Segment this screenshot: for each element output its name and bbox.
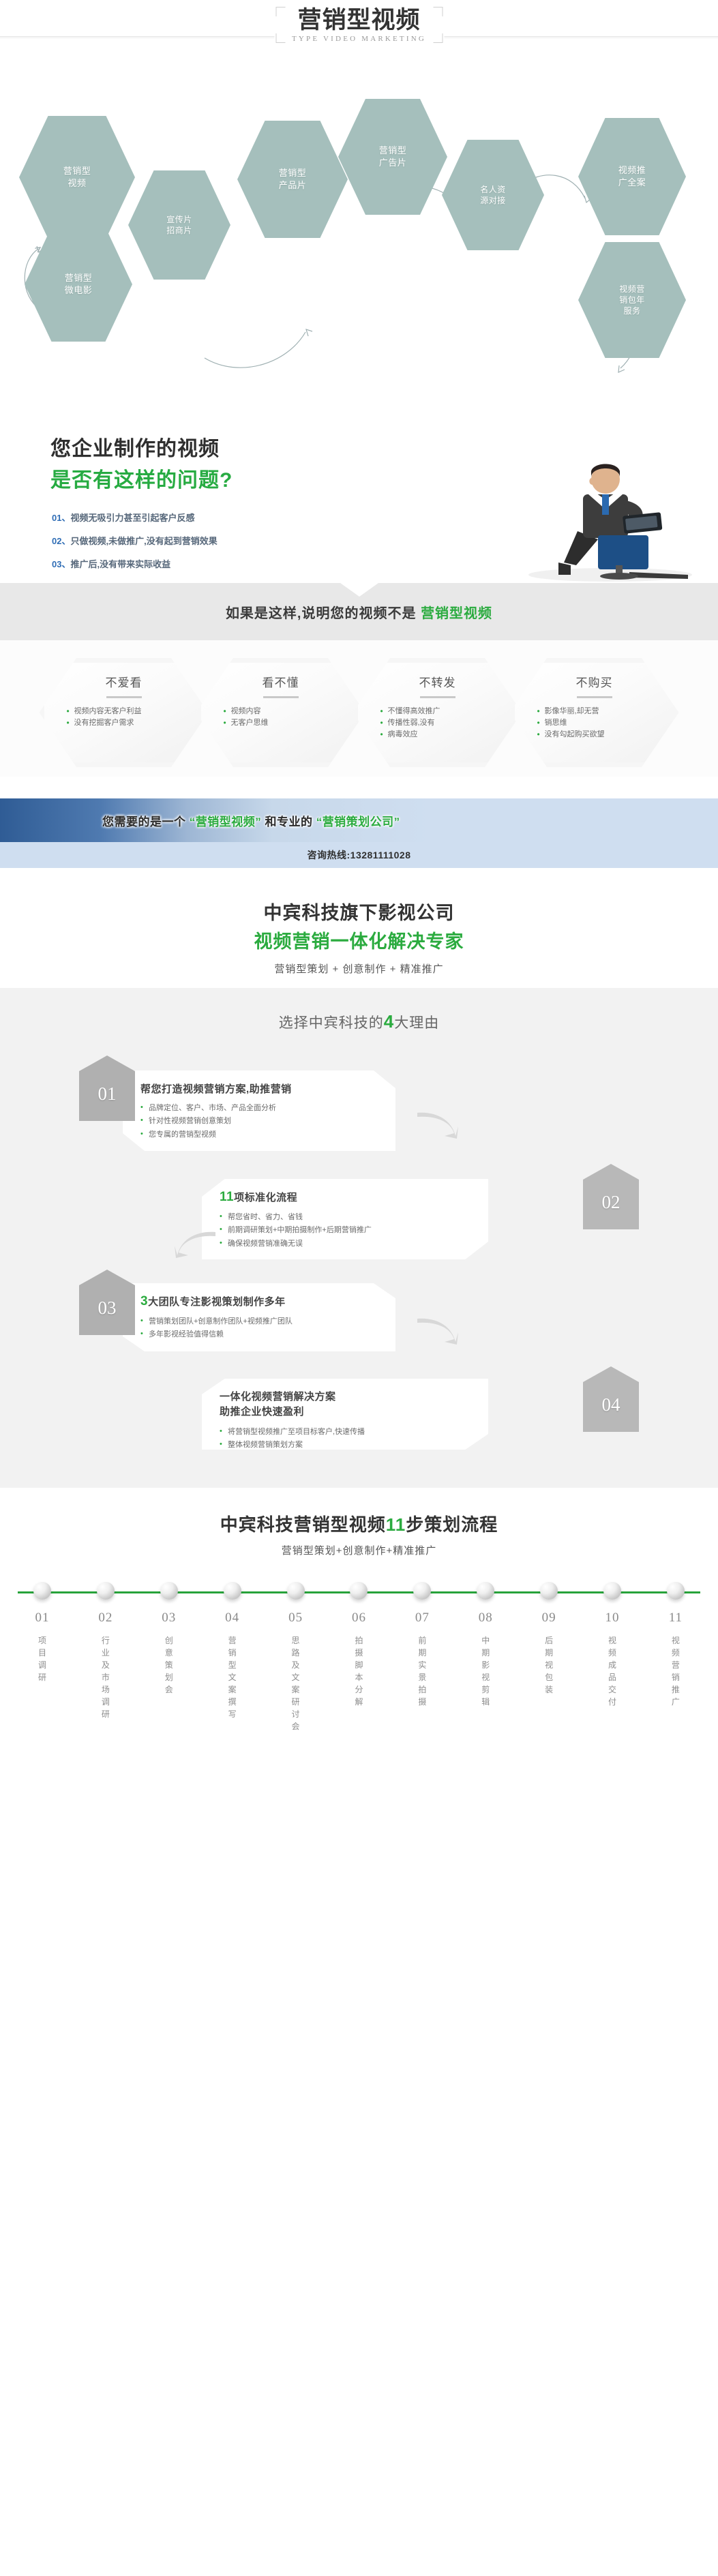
- issue-card-title: 不购买: [537, 673, 652, 690]
- company-line2: 视频营销一体化解决专家: [0, 927, 718, 953]
- reason-panel-0[interactable]: 帮您打造视频营销方案,助推营销 品牌定位、客户、市场、产品全面分析 针对性视频营…: [123, 1070, 395, 1151]
- hex-item-label: 宣传片 招商片: [166, 214, 192, 236]
- issue-card-rule: [106, 696, 142, 698]
- issue-card-0[interactable]: 不爱看 视频内容无客户利益 没有挖掘客户需求: [40, 658, 209, 767]
- timeline-step-5[interactable]: 06 拍摄脚本分解: [334, 1582, 383, 1733]
- timeline-step-label: 营销型文案撰写: [228, 1634, 237, 1720]
- timeline-dot-icon: [603, 1582, 621, 1600]
- problem-section: 您企业制作的视频 是否有这样的问题? 01、视频无吸引力甚至引起客户反感 02、…: [0, 419, 718, 583]
- timeline-title-pre: 中宾科技营销型视频: [220, 1514, 386, 1535]
- reason-badge-number: 04: [602, 1394, 620, 1416]
- timeline-subtitle: 营销型策划+创意制作+精准推广: [0, 1543, 718, 1557]
- corner-bracket-top-left-icon: [275, 7, 285, 16]
- timeline-steps: 01 项目调研 02 行业及市场调研 03 创意策划会 04 营销型文案撰写: [18, 1582, 700, 1733]
- problem-item-number: 02、: [52, 536, 70, 546]
- timeline-dot-icon: [477, 1582, 494, 1600]
- timeline-step-label: 中期影视剪辑: [481, 1634, 490, 1708]
- issue-card-bullet: 没有勾起购买欲望: [537, 729, 652, 740]
- cta-phone-label: 咨询热线:: [307, 850, 350, 860]
- reason-row-2: 03 3大团队专注影视策划制作多年 营销策划团队+创意制作团队+视频推广团队 多…: [0, 1270, 718, 1357]
- issue-card-bullet-cont: 销思维: [537, 717, 652, 729]
- reasons-heading-number: 4: [384, 1011, 394, 1032]
- timeline-step-number: 02: [81, 1611, 130, 1626]
- swoosh-arrow-icon: [416, 1315, 460, 1347]
- timeline-step-label: 创意策划会: [164, 1634, 174, 1696]
- reasons-heading: 选择中宾科技的4大理由: [0, 1011, 718, 1032]
- issue-card-2[interactable]: 不转发 不懂得高效推广 传播性弱,没有 病毒效应: [353, 658, 522, 767]
- landing-page: 营销型视频 TYPE VIDEO MARKETING 营销型 视频: [0, 0, 718, 1752]
- timeline-dot-icon: [160, 1582, 178, 1600]
- timeline-step-number: 01: [18, 1611, 67, 1626]
- timeline-dot-icon: [540, 1582, 558, 1600]
- reason-title-text: 大团队专注影视策划制作多年: [148, 1296, 286, 1308]
- issue-card-bullet: 影像华丽,却无营: [537, 706, 652, 717]
- issue-card-bullet: 传播性弱,没有: [380, 717, 495, 729]
- timeline-step-1[interactable]: 02 行业及市场调研: [81, 1582, 130, 1733]
- timeline-step-4[interactable]: 05 思路及文案研讨会: [271, 1582, 320, 1733]
- corner-bracket-top-right-icon: [433, 7, 443, 16]
- issue-card-title: 不爱看: [67, 673, 181, 690]
- issue-card-bullet-cont: 病毒效应: [380, 729, 495, 740]
- reason-title: 帮您打造视频营销方案,助推营销: [140, 1081, 378, 1096]
- timeline-step-label: 思路及文案研讨会: [291, 1634, 301, 1733]
- cta-phone-number: 13281111028: [350, 850, 411, 860]
- timeline-step-10[interactable]: 11 视频营销推广: [651, 1582, 700, 1733]
- page-header: 营销型视频 TYPE VIDEO MARKETING: [0, 0, 718, 78]
- cta-section: 您需要的是一个 “营销型视频” 和专业的 “营销策划公司” 咨询热线:13281…: [0, 777, 718, 886]
- reason-row-0: 01 帮您打造视频营销方案,助推营销 品牌定位、客户、市场、产品全面分析 针对性…: [0, 1055, 718, 1154]
- cta-emphasis-a: “营销型视频”: [190, 815, 262, 828]
- reason-badge-number: 01: [98, 1083, 117, 1105]
- problem-item-text: 只做视频,未做推广,没有起到营销效果: [70, 536, 217, 546]
- gray-banner-text: 如果是这样,说明您的视频不是 营销型视频: [226, 602, 492, 622]
- reason-badge-number: 03: [98, 1298, 117, 1319]
- issue-card-title: 看不懂: [224, 673, 338, 690]
- issue-card-bullet: 没有挖掘客户需求: [67, 717, 181, 729]
- gray-banner-emphasis: 营销型视频: [421, 606, 492, 621]
- corner-bracket-bottom-right-icon: [433, 33, 443, 43]
- issue-card-bullet: 无客户思维: [224, 717, 338, 729]
- gray-banner-plain: 如果是这样,说明您的视频不是: [226, 606, 421, 621]
- timeline-step-label: 行业及市场调研: [101, 1634, 110, 1720]
- timeline-title-post: 步策划流程: [406, 1514, 498, 1535]
- hex-item-label: 营销型 视频: [63, 165, 91, 189]
- problem-item-text: 推广后,没有带来实际收益: [70, 559, 170, 569]
- timeline-step-number: 05: [271, 1611, 320, 1626]
- hex-item-label: 营销型 产品片: [279, 167, 307, 191]
- cta-phone-bar: 咨询热线:13281111028: [0, 842, 718, 868]
- timeline-title-number: 11: [386, 1514, 406, 1535]
- reasons-section: 选择中宾科技的4大理由 01 帮您打造视频营销方案,助推营销 品牌定位、客户、市…: [0, 988, 718, 1488]
- timeline-step-label: 后期视包装: [544, 1634, 554, 1696]
- reason-bullet: 营销策划团队+创意制作团队+视频推广团队: [140, 1315, 378, 1328]
- page-subtitle: TYPE VIDEO MARKETING: [292, 35, 426, 43]
- timeline-step-3[interactable]: 04 营销型文案撰写: [208, 1582, 257, 1733]
- issue-card-3[interactable]: 不购买 影像华丽,却无营 销思维 没有勾起购买欲望: [510, 658, 679, 767]
- timeline-step-2[interactable]: 03 创意策划会: [145, 1582, 194, 1733]
- reason-bullet: 确保视频营销准确无误: [220, 1238, 470, 1250]
- issue-cards-section: 不爱看 视频内容无客户利益 没有挖掘客户需求 看不懂 视频内容 无客户思维 不转…: [0, 640, 718, 777]
- timeline-step-number: 03: [145, 1611, 194, 1626]
- issue-card-rule: [577, 696, 612, 698]
- reason-bullet: 针对性视频营销创意策划: [140, 1115, 378, 1128]
- timeline-step-number: 10: [588, 1611, 637, 1626]
- reason-bullet: 前期调研策划+中期拍摄制作+后期营销推广: [220, 1224, 470, 1237]
- reason-panel-2[interactable]: 3大团队专注影视策划制作多年 营销策划团队+创意制作团队+视频推广团队 多年影视…: [123, 1283, 395, 1351]
- timeline-step-number: 08: [461, 1611, 510, 1626]
- reason-bullet: 多年影视经验值得信赖: [140, 1328, 378, 1341]
- issue-card-title: 不转发: [380, 673, 495, 690]
- timeline-step-6[interactable]: 07 前期实景拍摄: [398, 1582, 447, 1733]
- reasons-heading-post: 大理由: [394, 1015, 439, 1031]
- timeline-dot-icon: [33, 1582, 51, 1600]
- issue-card-rule: [263, 696, 299, 698]
- problem-item-text: 视频无吸引力甚至引起客户反感: [70, 513, 194, 523]
- reason-title-number: 11: [220, 1190, 234, 1204]
- timeline-step-number: 09: [524, 1611, 573, 1626]
- hex-item-label: 名人资 源对接: [480, 184, 506, 206]
- hex-item-label: 营销型 广告片: [379, 145, 407, 168]
- corner-bracket-bottom-left-icon: [275, 33, 285, 43]
- timeline-step-9[interactable]: 10 视频成品交付: [588, 1582, 637, 1733]
- timeline-dot-icon: [287, 1582, 305, 1600]
- issue-card-rule: [420, 696, 455, 698]
- company-line1: 中宾科技旗下影视公司: [0, 898, 718, 925]
- cta-text-b: 和专业的: [261, 815, 316, 828]
- reason-row-1: 02 11项标准化流程 帮您省时、省力、省钱 前期调研策划+中期拍摄制作+后期营…: [0, 1163, 718, 1261]
- timeline-step-label: 视频营销推广: [671, 1634, 680, 1708]
- timeline-step-label: 项目调研: [38, 1634, 47, 1683]
- reason-bullet: 品牌定位、客户、市场、产品全面分析: [140, 1102, 378, 1115]
- timeline-title: 中宾科技营销型视频11步策划流程: [0, 1511, 718, 1536]
- reason-badge-04: 04: [583, 1366, 639, 1432]
- timeline-step-number: 07: [398, 1611, 447, 1626]
- timeline-dot-icon: [350, 1582, 368, 1600]
- reason-title: 一体化视频营销解决方案 助推企业快速盈利: [220, 1390, 470, 1420]
- timeline-step-label: 拍摄脚本分解: [354, 1634, 363, 1708]
- timeline-track-wrap: 01 项目调研 02 行业及市场调研 03 创意策划会 04 营销型文案撰写: [0, 1582, 718, 1733]
- reason-badge-01: 01: [79, 1055, 135, 1121]
- reason-title: 11项标准化流程: [220, 1190, 470, 1205]
- timeline-step-7[interactable]: 08 中期影视剪辑: [461, 1582, 510, 1733]
- reason-title: 3大团队专注影视策划制作多年: [140, 1294, 378, 1309]
- hex-item-label: 视频营 销包年 服务: [619, 284, 645, 317]
- timeline-dot-icon: [667, 1582, 685, 1600]
- timeline-dot-icon: [224, 1582, 241, 1600]
- header-title-box: 营销型视频 TYPE VIDEO MARKETING: [274, 4, 444, 46]
- reason-badge-number: 02: [602, 1192, 620, 1213]
- swoosh-arrow-icon: [416, 1109, 460, 1141]
- cta-banner: 您需要的是一个 “营销型视频” 和专业的 “营销策划公司”: [0, 798, 718, 842]
- cta-phone-text[interactable]: 咨询热线:13281111028: [307, 848, 410, 862]
- reason-panel-1[interactable]: 11项标准化流程 帮您省时、省力、省钱 前期调研策划+中期拍摄制作+后期营销推广…: [202, 1179, 488, 1259]
- company-section: 中宾科技旗下影视公司 视频营销一体化解决专家 营销型策划 + 创意制作 + 精准…: [0, 886, 718, 988]
- problem-item-number: 03、: [52, 559, 70, 569]
- swoosh-arrow-icon: [173, 1228, 217, 1261]
- timeline-step-label: 视频成品交付: [608, 1634, 617, 1708]
- reason-bullet: 整体视频营销策划方案: [220, 1439, 470, 1452]
- issue-card-bullet: 视频内容无客户利益: [67, 706, 181, 717]
- reason-bullet: 您专属的营销型视频: [140, 1128, 378, 1141]
- issue-card-bullet: 不懂得高效推广: [380, 706, 495, 717]
- reason-bullet: 将营销型视频推广至项目标客户,快速传播: [220, 1426, 470, 1439]
- company-line3: 营销型策划 + 创意制作 + 精准推广: [0, 961, 718, 976]
- issue-card-1[interactable]: 看不懂 视频内容 无客户思维: [196, 658, 365, 767]
- timeline-step-0[interactable]: 01 项目调研: [18, 1582, 67, 1733]
- hex-item-label: 营销型 微电影: [65, 272, 93, 296]
- cta-text-a: 您需要的是一个: [102, 815, 190, 828]
- reason-badge-03: 03: [79, 1270, 135, 1335]
- timeline-dot-icon: [413, 1582, 431, 1600]
- reason-panel-3[interactable]: 一体化视频营销解决方案 助推企业快速盈利 将营销型视频推广至项目标客户,快速传播…: [202, 1379, 488, 1450]
- reason-title-number: 3: [140, 1294, 148, 1308]
- cta-emphasis-b: “营销策划公司”: [316, 815, 400, 828]
- timeline-step-label: 前期实景拍摄: [417, 1634, 427, 1708]
- reason-title-text: 项标准化流程: [234, 1192, 297, 1203]
- businessman-photo: [496, 429, 700, 583]
- timeline-step-number: 11: [651, 1611, 700, 1626]
- reasons-heading-pre: 选择中宾科技的: [279, 1015, 384, 1031]
- gray-banner: 如果是这样,说明您的视频不是 营销型视频: [0, 583, 718, 640]
- issue-cards-row: 不爱看 视频内容无客户利益 没有挖掘客户需求 看不懂 视频内容 无客户思维 不转…: [0, 658, 718, 767]
- banner-notch-top-icon: [340, 583, 378, 597]
- reason-bullet: 帮您省时、省力、省钱: [220, 1211, 470, 1224]
- hex-item-label: 视频推 广全案: [618, 164, 646, 188]
- timeline-section: 中宾科技营销型视频11步策划流程 营销型策划+创意制作+精准推广 01 项目调研…: [0, 1488, 718, 1752]
- reason-badge-02: 02: [583, 1164, 639, 1229]
- reason-row-3: 04 一体化视频营销解决方案 助推企业快速盈利 将营销型视频推广至项目标客户,快…: [0, 1365, 718, 1452]
- page-title: 营销型视频: [292, 7, 426, 34]
- problem-item-number: 01、: [52, 513, 70, 523]
- timeline-step-number: 04: [208, 1611, 257, 1626]
- issue-card-bullet: 视频内容: [224, 706, 338, 717]
- hex-cloud-section: 营销型 视频 宣传片 招商片 营销型 产品片 营销型 广告片 名人资 源对接 视…: [0, 78, 718, 419]
- timeline-dot-icon: [97, 1582, 115, 1600]
- cta-text: 您需要的是一个 “营销型视频” 和专业的 “营销策划公司”: [102, 812, 400, 829]
- timeline-step-8[interactable]: 09 后期视包装: [524, 1582, 573, 1733]
- timeline-step-number: 06: [334, 1611, 383, 1626]
